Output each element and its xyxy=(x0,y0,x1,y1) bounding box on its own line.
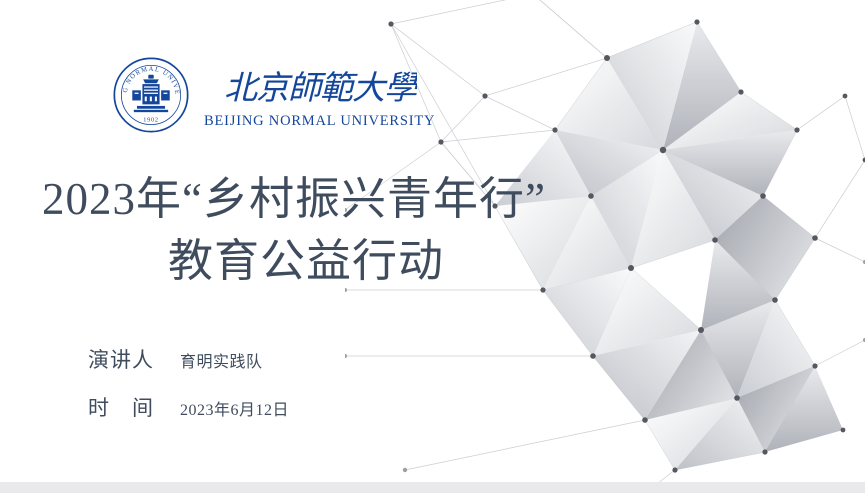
university-logo: BEIJING NORMAL UNIVERSITY xyxy=(112,56,435,134)
wordmark-chinese-calligraphy: 北京師範大學 xyxy=(223,61,417,111)
title-line-2: 教育公益行动 xyxy=(0,230,560,292)
presentation-meta: 演讲人 育明实践队 时 间 2023年6月12日 xyxy=(88,344,289,440)
presenter-label: 演讲人 xyxy=(88,344,180,374)
meta-row-presenter: 演讲人 育明实践队 xyxy=(88,344,289,374)
date-value: 2023年6月12日 xyxy=(180,396,289,420)
svg-text:1902: 1902 xyxy=(143,117,159,124)
bottom-bar xyxy=(0,482,865,493)
wordmark-english: BEIJING NORMAL UNIVERSITY xyxy=(204,113,435,130)
wordmark: 北京師範大學 BEIJING NORMAL UNIVERSITY xyxy=(204,61,435,130)
date-label: 时 间 xyxy=(88,392,180,422)
page-title: 2023年“乡村振兴青年行” 教育公益行动 xyxy=(0,168,560,292)
svg-text:北京師範大學: 北京師範大學 xyxy=(224,68,417,107)
title-slide: BEIJING NORMAL UNIVERSITY xyxy=(0,0,865,493)
meta-row-date: 时 间 2023年6月12日 xyxy=(88,392,289,422)
presenter-value: 育明实践队 xyxy=(180,348,263,372)
title-line-1: 2023年“乡村振兴青年行” xyxy=(0,168,560,230)
university-seal-icon: BEIJING NORMAL UNIVERSITY xyxy=(112,56,190,134)
